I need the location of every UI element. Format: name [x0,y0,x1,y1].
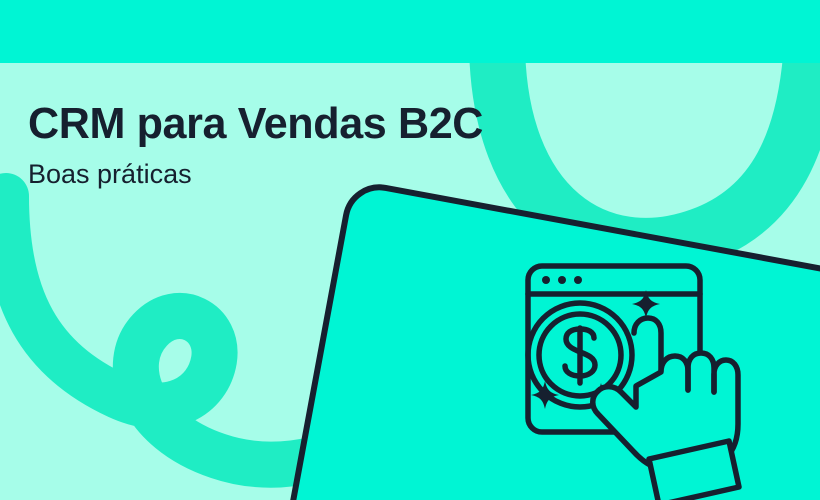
browser-window-dots [542,276,582,284]
top-band [0,0,820,63]
page-subtitle: Boas práticas [28,155,492,193]
banner-backdrop [0,0,820,500]
headline-block: CRM para Vendas B2C Boas práticas [28,96,492,193]
webinar-banner: WEBINAR CRM CRM para Vendas B2C Boas prá… [0,0,820,500]
page-title: CRM para Vendas B2C [28,96,483,152]
